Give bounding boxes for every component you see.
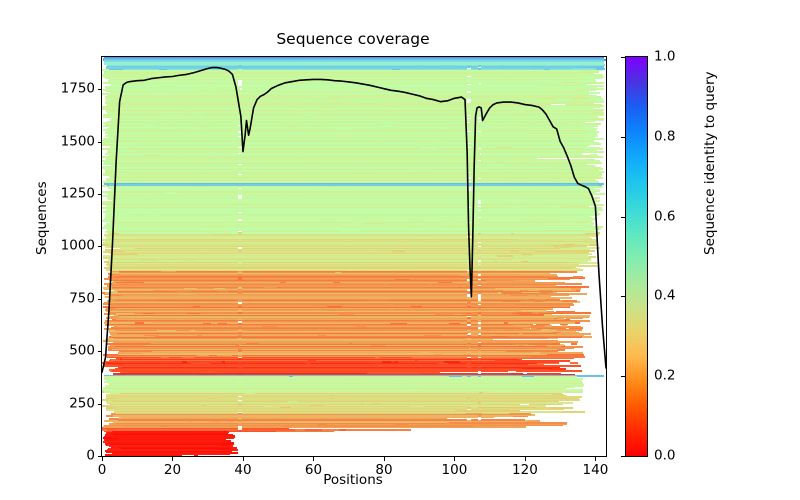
colorbar: 0.00.20.40.60.81.0 <box>625 56 648 457</box>
y-tick-label: 750 <box>69 291 95 306</box>
colorbar-tick-mark <box>621 376 626 377</box>
y-tick-mark <box>98 246 102 247</box>
y-tick-mark <box>98 89 102 90</box>
y-tick-mark <box>98 456 102 457</box>
y-tick-label: 1500 <box>61 134 95 149</box>
x-tick-mark <box>243 457 244 461</box>
plot-axes: 020406080100120140 025050075010001250150… <box>101 56 607 457</box>
y-tick-label: 1250 <box>61 186 95 201</box>
y-tick-label: 500 <box>69 344 95 359</box>
coverage-line <box>102 57 606 456</box>
colorbar-tick-mark <box>621 217 626 218</box>
colorbar-tick-label: 0.4 <box>654 289 675 304</box>
x-tick-mark <box>313 457 314 461</box>
x-tick-mark <box>172 457 173 461</box>
figure-canvas: Sequence coverage 020406080100120140 025… <box>0 0 800 500</box>
y-tick-mark <box>98 404 102 405</box>
x-tick-mark <box>595 457 596 461</box>
x-tick-mark <box>525 457 526 461</box>
colorbar-tick-label: 0.6 <box>654 209 675 224</box>
y-tick-label: 1750 <box>61 82 95 97</box>
x-axis-label: Positions <box>101 472 605 488</box>
colorbar-tick-label: 0.2 <box>654 369 675 384</box>
colorbar-tick-mark <box>621 296 626 297</box>
colorbar-tick-label: 0.0 <box>654 449 675 464</box>
x-tick-mark <box>454 457 455 461</box>
y-tick-mark <box>98 351 102 352</box>
colorbar-tick-label: 1.0 <box>654 50 675 65</box>
colorbar-tick-mark <box>621 456 626 457</box>
chart-title: Sequence coverage <box>101 30 605 48</box>
colorbar-tick-mark <box>621 57 626 58</box>
y-tick-mark <box>98 142 102 143</box>
x-tick-mark <box>102 457 103 461</box>
colorbar-tick-label: 0.8 <box>654 129 675 144</box>
heatmap-clip-region <box>102 57 606 456</box>
y-tick-label: 0 <box>86 449 95 464</box>
x-tick-mark <box>384 457 385 461</box>
y-tick-mark <box>98 194 102 195</box>
y-tick-label: 250 <box>69 396 95 411</box>
y-tick-mark <box>98 299 102 300</box>
colorbar-tick-mark <box>621 137 626 138</box>
y-tick-label: 1000 <box>61 239 95 254</box>
